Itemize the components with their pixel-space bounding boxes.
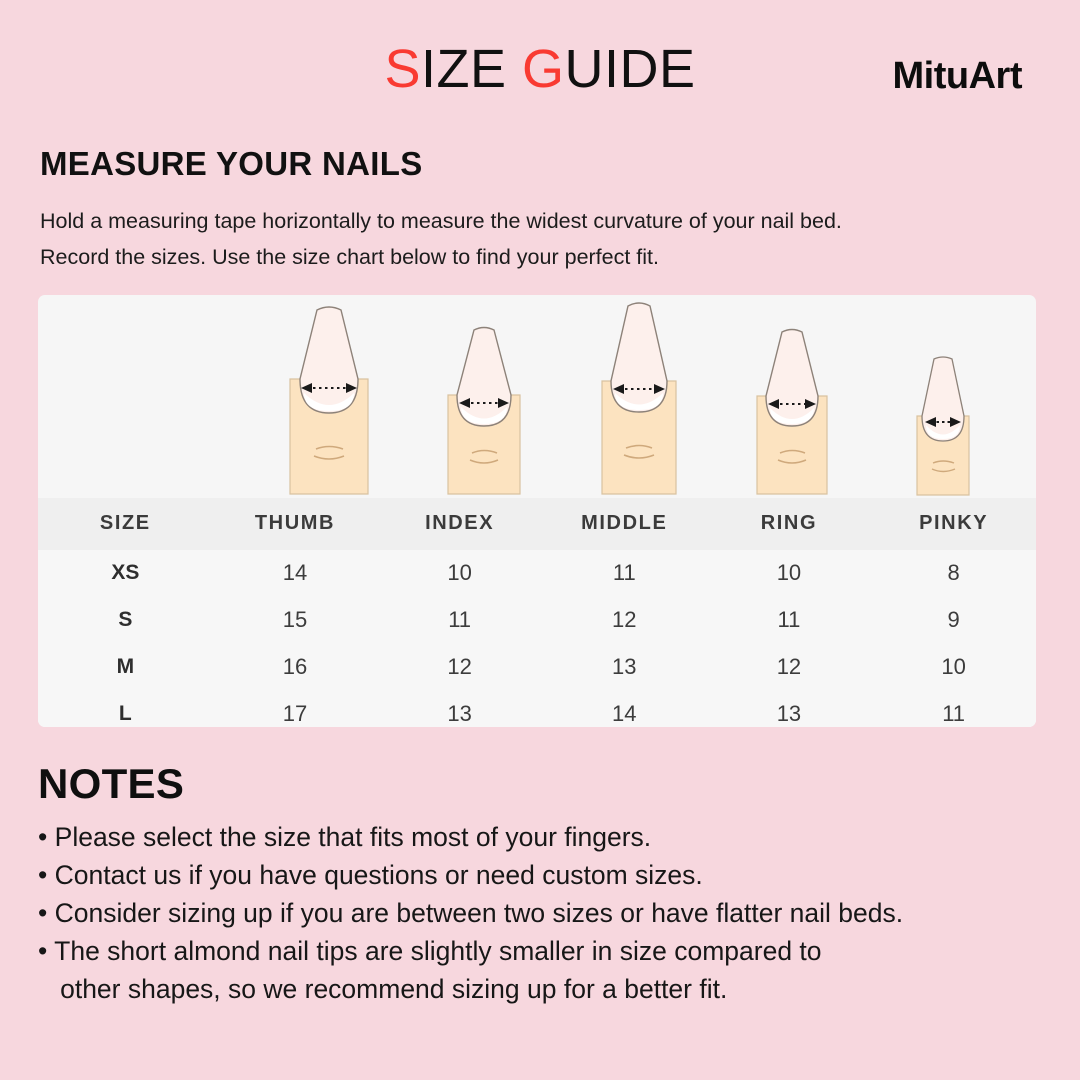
column-header-ring: RING <box>707 498 872 550</box>
cell-index: 11 <box>377 597 542 644</box>
column-header-middle: MIDDLE <box>542 498 707 550</box>
cell-ring: 10 <box>707 550 872 597</box>
table-row: L 17 13 14 13 11 <box>38 691 1036 727</box>
table-row: XS 14 10 11 10 8 <box>38 550 1036 597</box>
cell-index: 12 <box>377 644 542 691</box>
column-header-pinky: PINKY <box>871 498 1036 550</box>
brand-logo: MituArt <box>893 55 1022 98</box>
measure-heading: MEASURE YOUR NAILS <box>40 145 1040 183</box>
column-header-thumb: THUMB <box>213 498 378 550</box>
table-header-row: SIZE THUMB INDEX MIDDLE RING PINKY <box>38 498 1036 550</box>
title-part-3: G <box>522 39 565 99</box>
title-space <box>507 39 523 99</box>
column-header-size: SIZE <box>38 498 213 550</box>
note-item: • Please select the size that fits most … <box>38 818 1050 856</box>
cell-thumb: 15 <box>213 597 378 644</box>
cell-thumb: 16 <box>213 644 378 691</box>
cell-middle: 11 <box>542 550 707 597</box>
table-row: S 15 11 12 11 9 <box>38 597 1036 644</box>
nail-figure-ring <box>728 322 856 498</box>
cell-pinky: 8 <box>871 550 1036 597</box>
cell-thumb: 14 <box>213 550 378 597</box>
cell-middle: 12 <box>542 597 707 644</box>
measure-instruction-line-2: Record the sizes. Use the size chart bel… <box>40 239 1040 275</box>
measure-section: MEASURE YOUR NAILS Hold a measuring tape… <box>0 130 1080 275</box>
cell-pinky: 9 <box>871 597 1036 644</box>
cell-size: S <box>38 597 213 644</box>
cell-index: 10 <box>377 550 542 597</box>
size-chart-table: SIZE THUMB INDEX MIDDLE RING PINKY XS 14… <box>38 498 1036 727</box>
size-chart-panel: SIZE THUMB INDEX MIDDLE RING PINKY XS 14… <box>38 295 1036 727</box>
cell-thumb: 17 <box>213 691 378 727</box>
cell-middle: 13 <box>542 644 707 691</box>
cell-ring: 12 <box>707 644 872 691</box>
cell-ring: 13 <box>707 691 872 727</box>
cell-index: 13 <box>377 691 542 727</box>
measure-instruction-line-1: Hold a measuring tape horizontally to me… <box>40 203 1040 239</box>
page-header: SIZE GUIDE MituArt <box>0 0 1080 130</box>
cell-size: XS <box>38 550 213 597</box>
column-header-index: INDEX <box>377 498 542 550</box>
cell-ring: 11 <box>707 597 872 644</box>
note-item: • Contact us if you have questions or ne… <box>38 856 1050 894</box>
cell-middle: 14 <box>542 691 707 727</box>
title-part-0: S <box>384 39 421 99</box>
cell-size: L <box>38 691 213 727</box>
nail-figure-pinky <box>886 346 996 498</box>
note-item: other shapes, so we recommend sizing up … <box>38 970 1050 1008</box>
nail-figure-index <box>418 320 550 498</box>
title-part-1: IZE <box>421 39 507 99</box>
notes-heading: NOTES <box>38 760 1050 808</box>
note-item: • Consider sizing up if you are between … <box>38 894 1050 932</box>
table-row: M 16 12 13 12 10 <box>38 644 1036 691</box>
cell-size: M <box>38 644 213 691</box>
nail-figure-middle <box>570 298 708 498</box>
cell-pinky: 11 <box>871 691 1036 727</box>
notes-section: NOTES • Please select the size that fits… <box>38 760 1050 1008</box>
note-item: • The short almond nail tips are slightl… <box>38 932 1050 970</box>
nail-illustration-row <box>38 295 1036 498</box>
title-part-4: UIDE <box>565 39 696 99</box>
nail-figure-thumb <box>254 301 404 498</box>
cell-pinky: 10 <box>871 644 1036 691</box>
